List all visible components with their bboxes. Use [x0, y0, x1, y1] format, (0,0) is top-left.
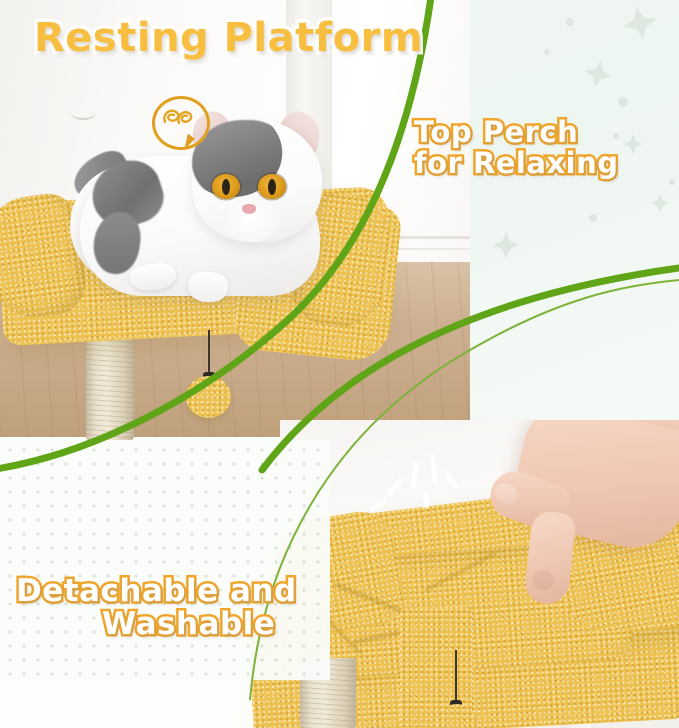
sleep-thought-bubble-icon [152, 96, 208, 148]
cat-pupil-left [222, 179, 230, 195]
cat-paw-right [187, 271, 229, 304]
pompom-toy-icon [186, 376, 231, 418]
callout-washable-line1: Detachable and [16, 573, 297, 609]
sleep-scribble-icon [161, 106, 195, 132]
dot-pattern-panel [0, 440, 330, 680]
callout-top-perch-line2: for Relaxing [414, 146, 619, 180]
hand [470, 420, 679, 640]
middle-finger [523, 510, 576, 606]
cat-nose [242, 204, 256, 214]
pompom-string-lower [455, 650, 457, 704]
sparkle-lines-icon [424, 492, 429, 508]
cat-mouth [70, 104, 96, 120]
photo-cat-on-platform [0, 0, 679, 455]
callout-detachable-washable: Detachable andWashable [16, 575, 297, 642]
cat-pupil-right [268, 179, 276, 195]
callout-washable-line2: Washable [102, 608, 297, 641]
cat [70, 104, 370, 309]
page-title: Resting Platform [34, 17, 423, 60]
product-infographic: Resting Platform Top Perchfor Relaxing D… [0, 0, 679, 728]
callout-top-perch: Top Perchfor Relaxing [414, 117, 619, 180]
callout-top-perch-line1: Top Perch [414, 115, 578, 149]
pompom-string [208, 330, 210, 375]
